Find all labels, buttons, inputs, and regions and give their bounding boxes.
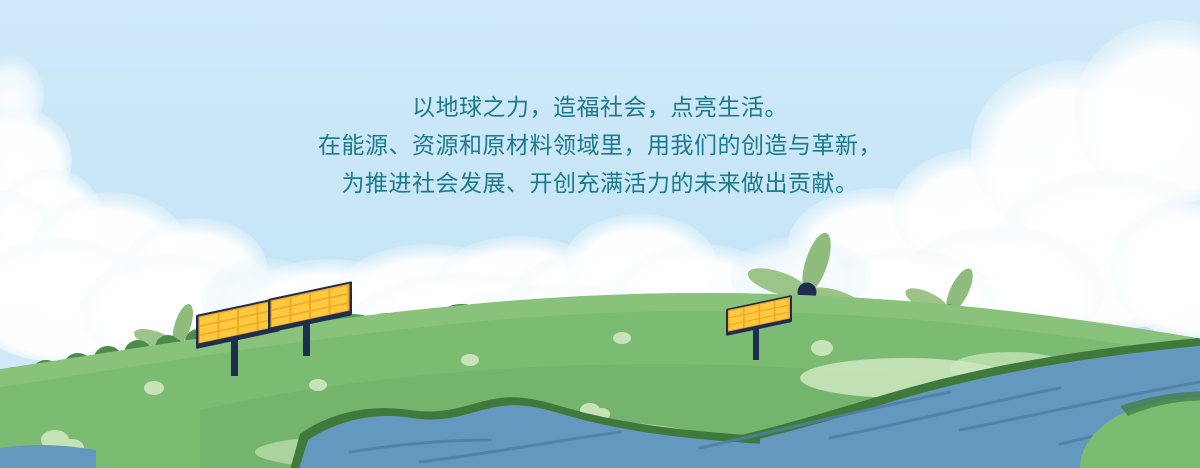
eco-hero-banner: 以地球之力，造福社会，点亮生活。 在能源、资源和原材料领域里，用我们的创造与革新… [0,0,1200,468]
scene-illustration [0,0,1200,468]
